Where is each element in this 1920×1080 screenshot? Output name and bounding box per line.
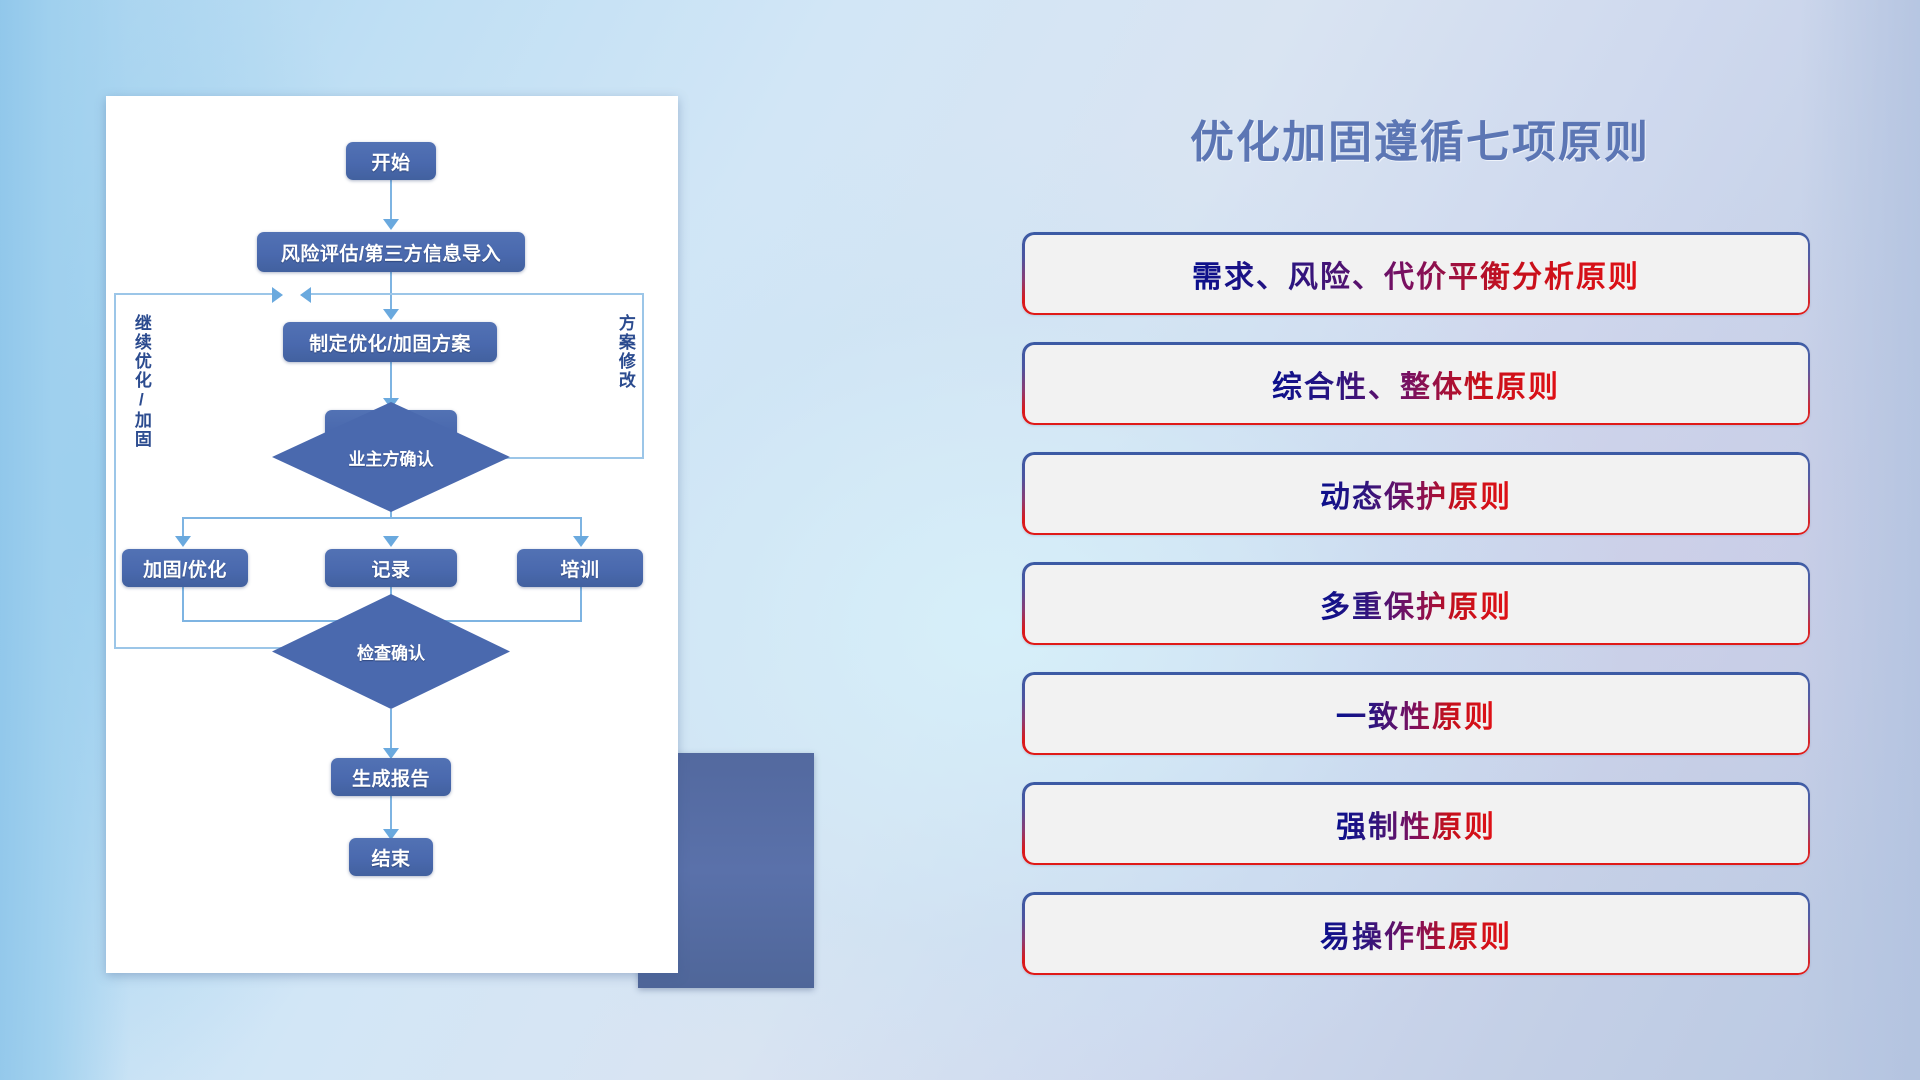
flowchart-card: 开始 风险评估/第三方信息导入 制定优化/加固方案 提交申请 业主方确认 加固/…: [106, 96, 678, 973]
flow-node-record[interactable]: 记录: [325, 549, 457, 587]
flow-node-end-label: 结束: [371, 844, 410, 871]
flow-node-reinforce-label: 加固/优化: [143, 555, 227, 582]
arrow-risk-to-plan: [383, 309, 399, 320]
principle-card[interactable]: 易操作性原则: [1022, 892, 1810, 975]
principle-card-label: 多重保护原则: [1320, 582, 1512, 626]
principle-card[interactable]: 动态保护原则: [1022, 452, 1810, 535]
connector-training-down: [580, 587, 582, 622]
principle-card[interactable]: 多重保护原则: [1022, 562, 1810, 645]
slide-canvas: 开始 风险评估/第三方信息导入 制定优化/加固方案 提交申请 业主方确认 加固/…: [0, 0, 1920, 1080]
arrow-to-record: [383, 536, 399, 547]
edge-label-left-loop: 继续优化/加固: [132, 314, 150, 449]
principle-card-label: 动态保护原则: [1320, 472, 1512, 516]
principle-card-label: 强制性原则: [1336, 802, 1496, 846]
flow-node-report[interactable]: 生成报告: [331, 758, 451, 796]
connector-left-loop-vertical: [114, 293, 116, 649]
flow-node-start-label: 开始: [371, 148, 410, 175]
principle-card[interactable]: 强制性原则: [1022, 782, 1810, 865]
flow-node-check-confirm[interactable]: 检查确认: [272, 594, 510, 709]
flow-node-report-label: 生成报告: [352, 764, 430, 791]
flow-node-check-confirm-label: 检查确认: [357, 639, 425, 664]
arrow-start-to-risk: [383, 219, 399, 230]
principle-card-label: 需求、风险、代价平衡分析原则: [1192, 252, 1640, 296]
flow-node-risk-assessment-label: 风险评估/第三方信息导入: [281, 239, 501, 266]
flow-node-training-label: 培训: [560, 555, 599, 582]
flow-node-record-label: 记录: [371, 555, 410, 582]
edge-label-right-loop: 方案修改: [616, 314, 634, 390]
connector-branch-bus: [182, 517, 582, 519]
arrow-to-reinforce: [175, 536, 191, 547]
flow-node-risk-assessment[interactable]: 风险评估/第三方信息导入: [257, 232, 525, 272]
flow-node-training[interactable]: 培训: [517, 549, 643, 587]
principle-card[interactable]: 一致性原则: [1022, 672, 1810, 755]
connector-plan-to-submit: [390, 361, 392, 402]
arrow-right-loop-to-plan: [300, 287, 311, 303]
connector-right-loop-vertical: [642, 293, 644, 459]
connector-start-to-risk: [390, 179, 392, 223]
flow-node-start[interactable]: 开始: [346, 142, 436, 180]
connector-reinforce-down: [182, 587, 184, 622]
flow-node-owner-confirm[interactable]: 业主方确认: [272, 402, 510, 512]
page-title: 优化加固遵循七项原则: [1030, 106, 1810, 170]
principle-card-label: 易操作性原则: [1320, 912, 1512, 956]
flow-node-reinforce[interactable]: 加固/优化: [122, 549, 248, 587]
flow-node-end[interactable]: 结束: [349, 838, 433, 876]
flow-node-plan-label: 制定优化/加固方案: [309, 329, 471, 356]
connector-right-loop-top: [310, 293, 644, 295]
principles-list: 需求、风险、代价平衡分析原则综合性、整体性原则动态保护原则多重保护原则一致性原则…: [1022, 232, 1810, 1002]
principle-card[interactable]: 需求、风险、代价平衡分析原则: [1022, 232, 1810, 315]
connector-owner-to-right-loop: [494, 457, 644, 459]
principle-card-label: 综合性、整体性原则: [1272, 362, 1560, 406]
flow-node-plan[interactable]: 制定优化/加固方案: [283, 322, 497, 362]
arrow-to-training: [573, 536, 589, 547]
flow-node-owner-confirm-label: 业主方确认: [349, 445, 434, 470]
connector-risk-to-plan: [390, 271, 392, 313]
connector-check-to-report: [390, 709, 392, 752]
principle-card[interactable]: 综合性、整体性原则: [1022, 342, 1810, 425]
principle-card-label: 一致性原则: [1336, 692, 1496, 736]
arrow-left-loop-to-plan: [272, 287, 283, 303]
connector-left-loop-top: [114, 293, 276, 295]
connector-report-to-end: [390, 796, 392, 833]
